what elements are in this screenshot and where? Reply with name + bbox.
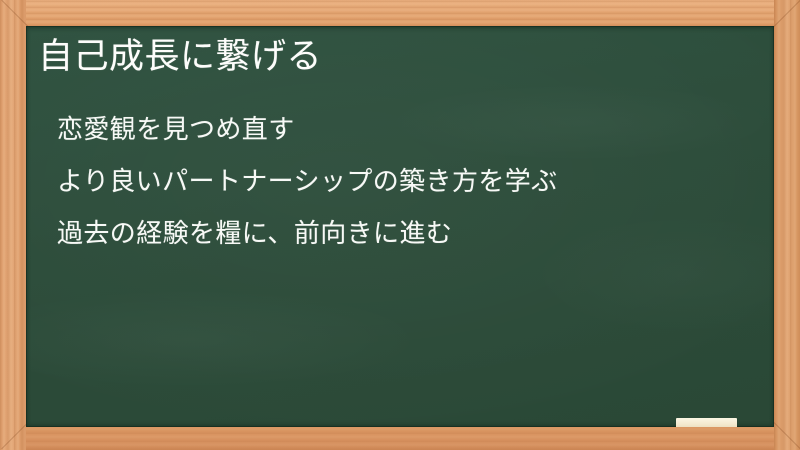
slide-title: 自己成長に繋げる (38, 34, 322, 80)
bullet-list: 恋愛観を見つめ直す より良いパートナーシップの築き方を学ぶ 過去の経験を糧に、前… (57, 104, 754, 260)
chalkboard-surface: 自己成長に繋げる 恋愛観を見つめ直す より良いパートナーシップの築き方を学ぶ 過… (26, 26, 774, 427)
bullet-item: 恋愛観を見つめ直す (57, 104, 754, 156)
bullet-item: より良いパートナーシップの築き方を学ぶ (57, 156, 754, 208)
bullet-item: 過去の経験を糧に、前向きに進む (57, 208, 754, 260)
slide-root: 自己成長に繋げる 恋愛観を見つめ直す より良いパートナーシップの築き方を学ぶ 過… (0, 0, 800, 450)
frame-rail-right (774, 0, 800, 450)
slide-content: 自己成長に繋げる 恋愛観を見つめ直す より良いパートナーシップの築き方を学ぶ 過… (26, 26, 774, 427)
chalk-stick-icon (676, 418, 737, 427)
frame-rail-left (0, 0, 26, 450)
frame-rail-top (0, 0, 800, 26)
frame-rail-bottom (0, 427, 800, 450)
